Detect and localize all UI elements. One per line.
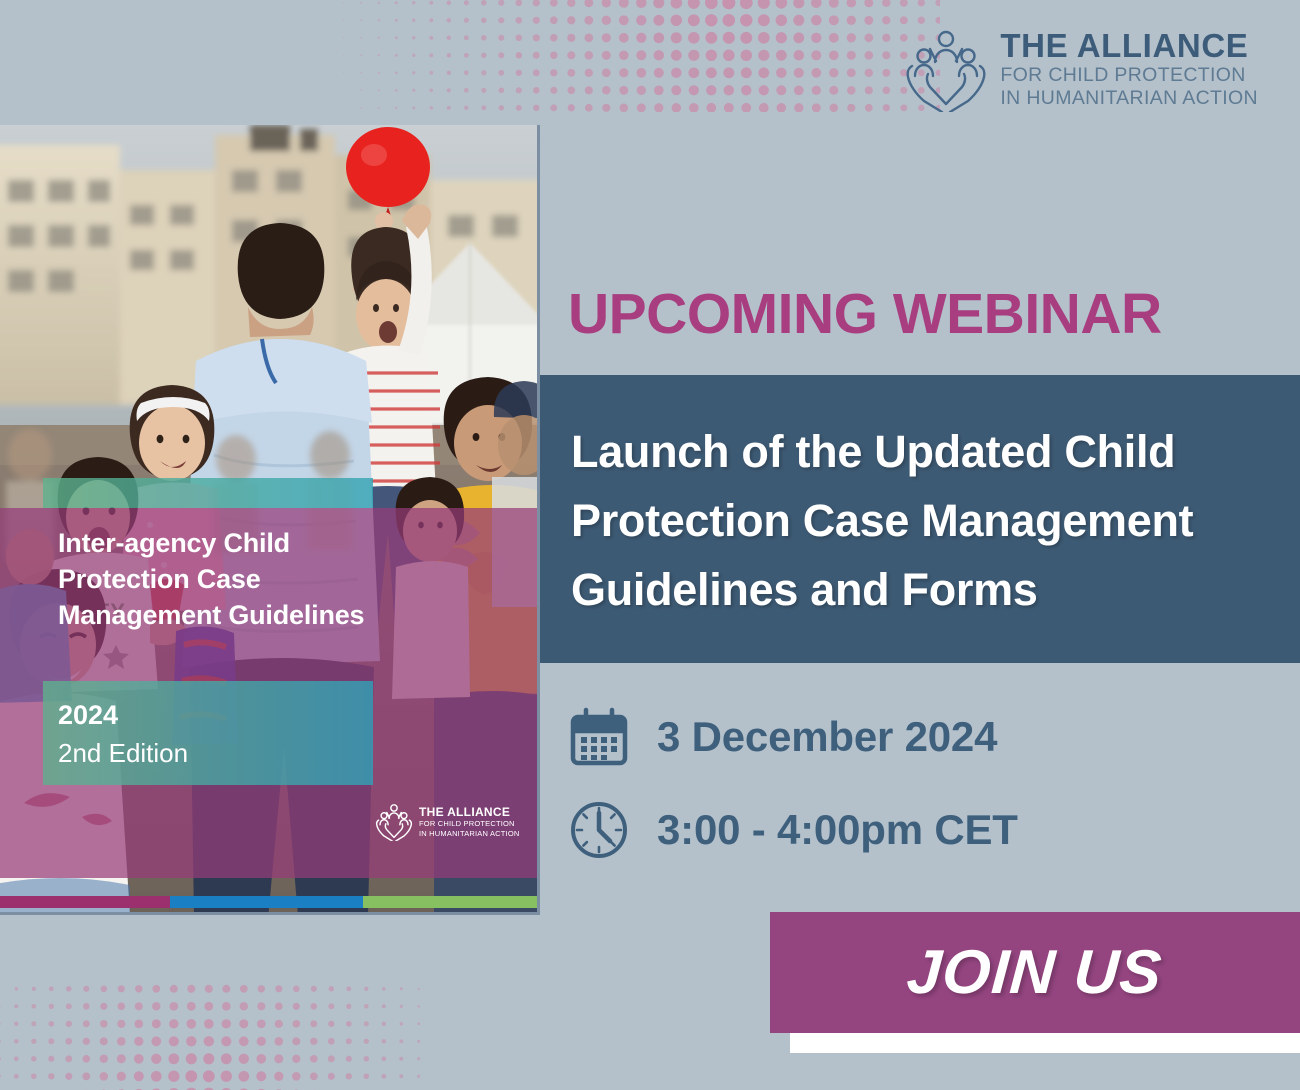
webinar-promo-poster: THE ALLIANCE FOR CHILD PROTECTION IN HUM… <box>0 0 1300 1090</box>
stripe-green <box>363 896 537 908</box>
webinar-date-row: 3 December 2024 <box>568 706 1018 768</box>
alliance-logo-line2: FOR CHILD PROTECTION <box>1000 64 1258 88</box>
webinar-title-panel: Launch of the Updated Child Protection C… <box>540 375 1300 663</box>
book-cover-logo-line2: FOR CHILD PROTECTION <box>419 819 520 829</box>
book-cover-overlay: Inter-agency Child Protection Case Manag… <box>0 478 537 915</box>
book-cover-year: 2024 <box>58 700 118 731</box>
stripe-magenta <box>0 896 170 908</box>
page-kicker: UPCOMING WEBINAR <box>568 286 1162 343</box>
hands-cradling-children-icon <box>906 28 986 112</box>
book-cover-edition: 2nd Edition <box>58 738 188 769</box>
page-title: Launch of the Updated Child Protection C… <box>571 418 1271 625</box>
book-cover-title: Inter-agency Child Protection Case Manag… <box>58 526 388 634</box>
halftone-dots-bottom-left <box>0 980 420 1090</box>
book-cover-logo-line3: IN HUMANITARIAN ACTION <box>419 829 520 839</box>
cover-band-teal <box>43 681 373 785</box>
alliance-logo-line1: THE ALLIANCE <box>1000 29 1258 64</box>
book-cover-logo-line1: THE ALLIANCE <box>419 806 520 820</box>
hands-cradling-children-icon <box>375 803 413 841</box>
stripe-blue <box>170 896 363 908</box>
join-us-label: JOIN US <box>905 937 1165 1008</box>
webinar-date: 3 December 2024 <box>657 713 997 761</box>
book-cover-stripes <box>0 896 537 908</box>
calendar-icon <box>568 706 630 768</box>
cover-band-top <box>43 478 373 508</box>
halftone-dots-top <box>300 0 940 112</box>
book-cover-alliance-logo: THE ALLIANCE FOR CHILD PROTECTION IN HUM… <box>375 803 525 841</box>
alliance-logo: THE ALLIANCE FOR CHILD PROTECTION IN HUM… <box>906 28 1258 112</box>
clock-icon <box>568 799 630 861</box>
webinar-time-row: 3:00 - 4:00pm CET <box>568 799 1018 861</box>
cta-underbar <box>790 1033 1300 1053</box>
alliance-logo-text: THE ALLIANCE FOR CHILD PROTECTION IN HUM… <box>1000 29 1258 111</box>
webinar-time: 3:00 - 4:00pm CET <box>657 806 1018 854</box>
join-us-button[interactable]: JOIN US <box>770 912 1300 1033</box>
book-cover-logo-text: THE ALLIANCE FOR CHILD PROTECTION IN HUM… <box>419 806 520 839</box>
alliance-logo-line3: IN HUMANITARIAN ACTION <box>1000 87 1258 111</box>
webinar-details: 3 December 2024 3:00 - 4:00pm CET <box>568 706 1018 892</box>
